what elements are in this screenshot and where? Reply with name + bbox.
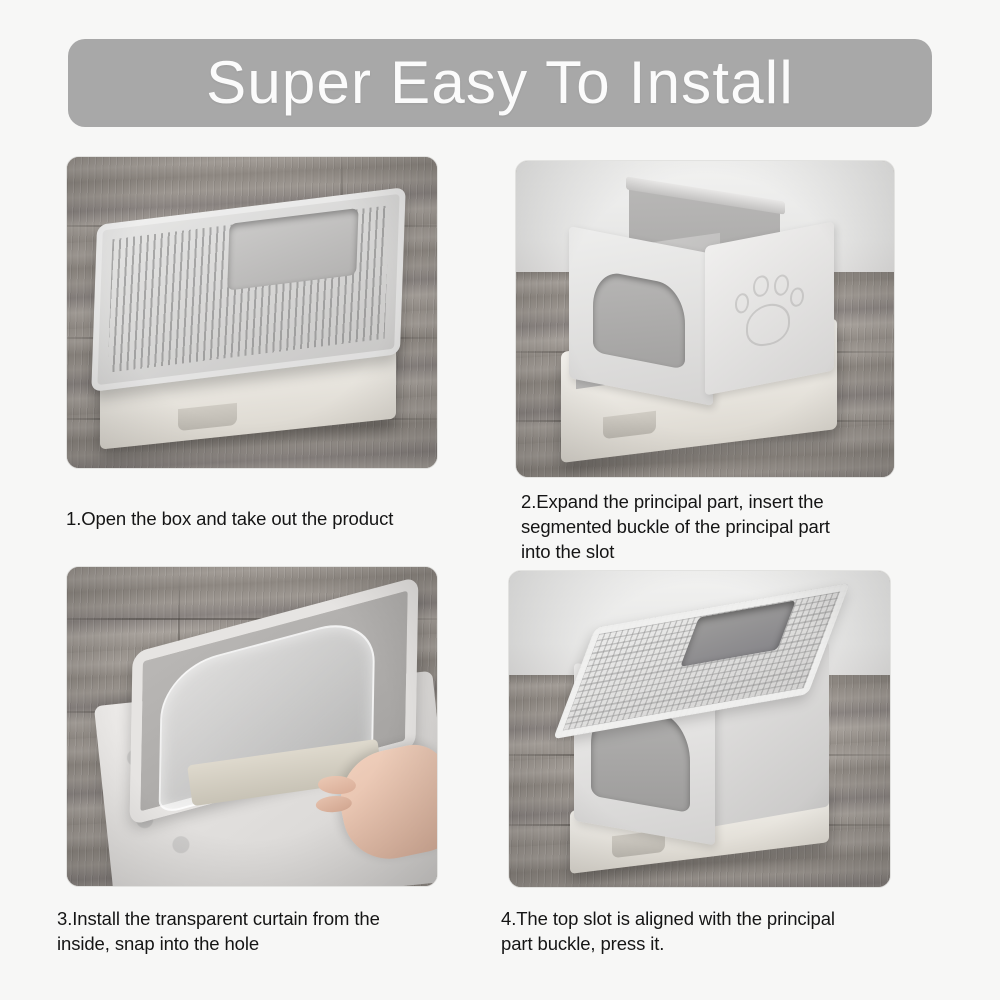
page-title: Super Easy To Install — [206, 53, 794, 113]
scene-3 — [67, 567, 437, 886]
front-panel — [569, 226, 713, 406]
step-photo-4 — [508, 570, 891, 888]
scene-1 — [67, 157, 437, 468]
step-photo-1 — [66, 156, 438, 469]
step-photo-2 — [515, 160, 895, 478]
step-caption-2: 2.Expand the principal part, insert the … — [521, 489, 921, 564]
step-caption-1: 1.Open the box and take out the product — [66, 506, 466, 531]
step-caption-4: 4.The top slot is aligned with the princ… — [501, 906, 921, 956]
cat-entry-opening — [593, 269, 685, 370]
side-panel-paw — [705, 221, 834, 394]
header-banner: Super Easy To Install — [68, 39, 932, 127]
scene-4 — [509, 571, 890, 887]
paw-print-icon — [733, 262, 805, 353]
scene-2 — [516, 161, 894, 477]
step-photo-3 — [66, 566, 438, 887]
step-caption-3: 3.Install the transparent curtain from t… — [57, 906, 477, 956]
